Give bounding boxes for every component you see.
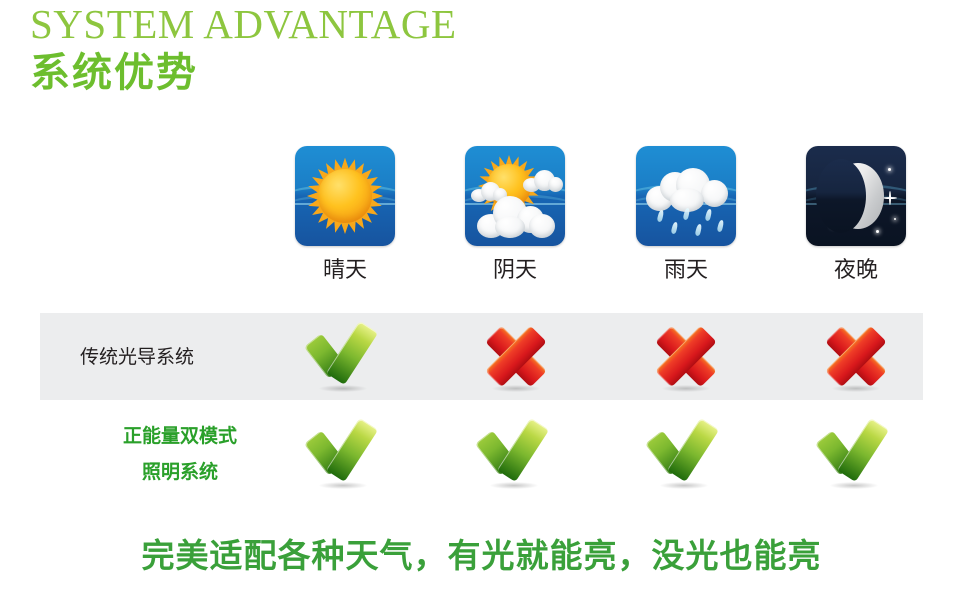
sun-behind-cloud-icon [465, 146, 565, 246]
cloud-glyph-large [477, 194, 555, 238]
row-label-text: 传统光导系统 [80, 343, 194, 371]
raindrop-glyph [717, 220, 725, 233]
weather-column-rainy: 雨天 [616, 146, 756, 284]
page-header: SYSTEM ADVANTAGE 系统优势 [30, 2, 630, 96]
cross-icon [654, 327, 718, 387]
weather-label-rainy: 雨天 [616, 258, 756, 284]
weather-label-cloudy: 阴天 [445, 258, 585, 284]
check-icon [480, 423, 552, 485]
row-label-text-line1: 正能量双模式 [123, 422, 237, 450]
cell-traditional-sunny [285, 313, 405, 400]
cross-icon [824, 327, 888, 387]
cell-dualmode-rainy [626, 408, 746, 500]
footer-tagline: 完美适配各种天气，有光就能亮，没光也能亮 [142, 534, 822, 578]
check-icon [309, 423, 381, 485]
cell-dualmode-cloudy [456, 408, 576, 500]
weather-column-cloudy: 阴天 [445, 146, 585, 284]
page-title-english: SYSTEM ADVANTAGE [30, 2, 630, 46]
cross-icon [484, 327, 548, 387]
raindrop-glyph [695, 224, 703, 237]
sun-icon [295, 146, 395, 246]
cell-traditional-night [796, 313, 916, 400]
row-label-traditional: 传统光导系统 [60, 313, 300, 400]
sun-glyph [307, 158, 383, 234]
table-row-traditional: 传统光导系统 [40, 313, 923, 400]
crescent-moon-night-icon [806, 146, 906, 246]
cell-dualmode-night [796, 408, 916, 500]
weather-label-sunny: 晴天 [275, 258, 415, 284]
check-icon [650, 423, 722, 485]
page-footer: 完美适配各种天气，有光就能亮，没光也能亮 [0, 534, 963, 578]
star-glyph [884, 192, 896, 204]
cell-traditional-cloudy [456, 313, 576, 400]
raindrop-glyph [671, 222, 679, 235]
star-glyph [876, 230, 879, 233]
check-icon [820, 423, 892, 485]
cloud-glyph-large [646, 168, 728, 212]
rain-cloud-icon [636, 146, 736, 246]
check-icon [309, 326, 381, 388]
row-label-dualmode: 正能量双模式 照明系统 [60, 408, 300, 500]
weather-column-sunny: 晴天 [275, 146, 415, 284]
cell-traditional-rainy [626, 313, 746, 400]
star-glyph [888, 168, 891, 171]
cell-dualmode-sunny [285, 408, 405, 500]
comparison-table: 传统光导系统 [0, 313, 963, 508]
weather-condition-row: 晴天 [0, 146, 963, 291]
moon-glyph [832, 163, 884, 229]
row-label-text-line2: 照明系统 [142, 458, 218, 486]
weather-label-night: 夜晚 [786, 258, 926, 284]
page-title-chinese: 系统优势 [30, 50, 630, 96]
weather-column-night: 夜晚 [786, 146, 926, 284]
table-row-dualmode: 正能量双模式 照明系统 [40, 408, 923, 500]
cloud-glyph-small [523, 170, 563, 192]
star-glyph [894, 218, 896, 220]
sun-disc [318, 169, 372, 223]
